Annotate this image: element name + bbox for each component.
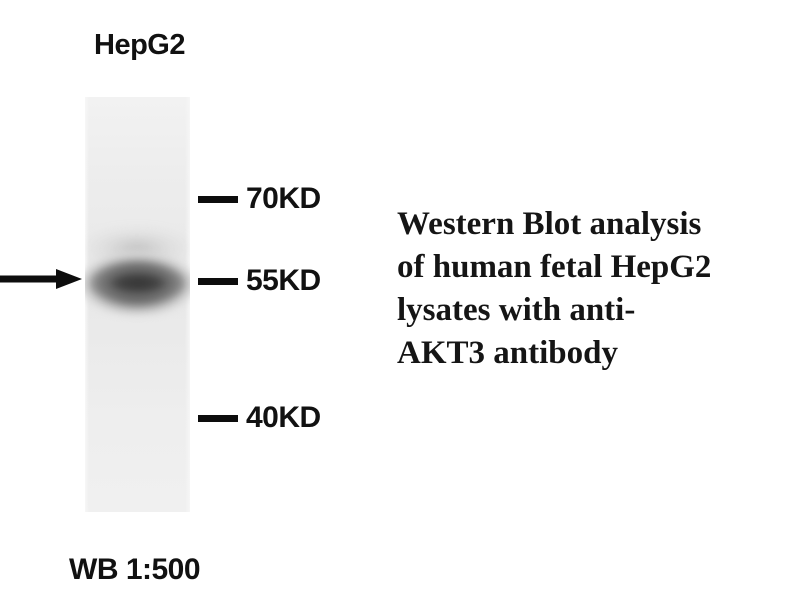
description-line: lysates with anti- (397, 289, 800, 332)
protein-band-core (89, 263, 187, 303)
mw-marker-40kd: 40KD (198, 402, 321, 434)
blot-lane (85, 97, 190, 512)
description-line: Western Blot analysis (397, 203, 800, 246)
mw-marker-label: 40KD (246, 401, 321, 435)
description-line: of human fetal HepG2 (397, 246, 800, 289)
mw-marker-label: 70KD (246, 182, 321, 216)
lane-header-label: HepG2 (94, 29, 185, 62)
mw-marker-70kd: 70KD (198, 183, 321, 215)
description-line: AKT3 antibody (397, 332, 800, 375)
western-blot-figure: HepG2 70KD 55KD 40KD Western Blot analys… (0, 0, 800, 600)
mw-marker-55kd: 55KD (198, 265, 321, 297)
mw-marker-label: 55KD (246, 264, 321, 298)
mw-tick-icon (198, 196, 238, 203)
mw-tick-icon (198, 278, 238, 285)
mw-tick-icon (198, 415, 238, 422)
band-pointer-arrow (0, 268, 82, 290)
figure-description: Western Blot analysis of human fetal Hep… (397, 203, 800, 375)
dilution-caption: WB 1:500 (69, 553, 200, 587)
